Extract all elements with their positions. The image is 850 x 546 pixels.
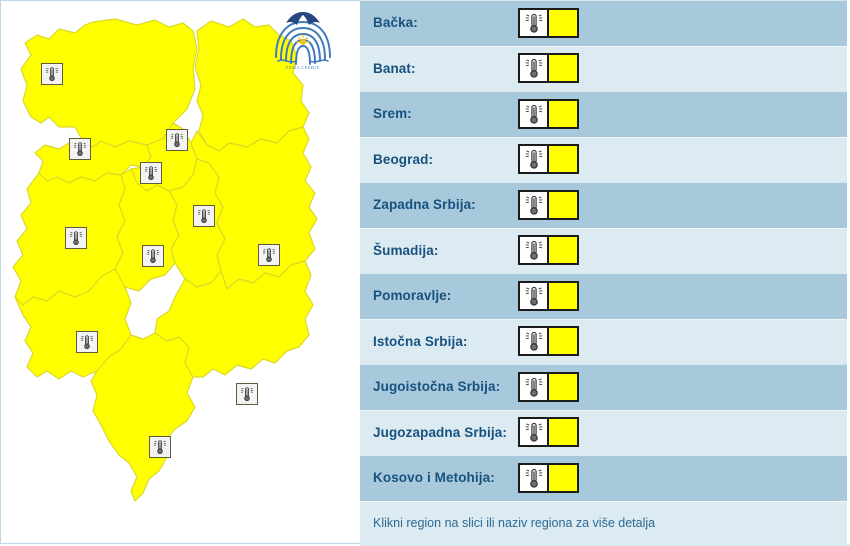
footer-hint-text: Klikni region na slici ili naziv regiona… [360, 516, 655, 530]
region-warning-indicator[interactable] [518, 99, 579, 129]
region-label[interactable]: Zapadna Srbija: [360, 197, 518, 212]
thermometer-icon-box [518, 53, 548, 83]
region-warning-indicator[interactable] [518, 372, 579, 402]
thermometer-icon-box [518, 8, 548, 38]
region-row-11[interactable]: Kosovo i Metohija: [360, 455, 850, 501]
meteoalarm-page: РХМЗ СРБИЈЕ [0, 0, 850, 544]
row-separator [360, 228, 850, 229]
region-warning-indicator[interactable] [518, 281, 579, 311]
thermometer-icon-box [518, 372, 548, 402]
region-row-7[interactable]: Pomoravlje: [360, 273, 850, 319]
map-marker-kosovo-i-metohija[interactable] [149, 436, 171, 458]
warning-level-swatch [548, 463, 579, 493]
region-row-10[interactable]: Jugozapadna Srbija: [360, 410, 850, 456]
region-row-2[interactable]: Banat: [360, 46, 850, 92]
thermometer-heat-icon [523, 330, 545, 352]
row-separator [360, 273, 850, 274]
row-separator [360, 364, 850, 365]
thermometer-icon-box [518, 326, 548, 356]
region-label[interactable]: Istočna Srbija: [360, 334, 518, 349]
thermometer-heat-icon [523, 239, 545, 261]
row-separator [360, 501, 850, 502]
row-separator [360, 0, 850, 1]
region-warning-indicator[interactable] [518, 235, 579, 265]
map-marker-bačka[interactable] [41, 63, 63, 85]
region-warning-indicator[interactable] [518, 8, 579, 38]
thermometer-icon-box [518, 281, 548, 311]
map-marker-beograd[interactable] [140, 162, 162, 184]
region-warning-indicator[interactable] [518, 144, 579, 174]
thermometer-heat-icon [523, 376, 545, 398]
region-row-9[interactable]: Jugoistočna Srbija: [360, 364, 850, 410]
region-warning-indicator[interactable] [518, 463, 579, 493]
thermometer-heat-icon [152, 439, 168, 455]
thermometer-heat-icon [523, 12, 545, 34]
region-label[interactable]: Jugozapadna Srbija: [360, 425, 518, 440]
footer-hint-row: Klikni region na slici ili naziv regiona… [360, 501, 850, 546]
map-marker-šumadija[interactable] [142, 245, 164, 267]
map-marker-zapadna-srbija[interactable] [65, 227, 87, 249]
map-marker-srem[interactable] [69, 138, 91, 160]
thermometer-heat-icon [169, 132, 185, 148]
region-list: Bačka: Banat: [360, 0, 850, 544]
region-label[interactable]: Srem: [360, 106, 518, 121]
thermometer-heat-icon [239, 386, 255, 402]
region-label[interactable]: Jugoistočna Srbija: [360, 379, 518, 394]
warning-level-swatch [548, 281, 579, 311]
thermometer-heat-icon [145, 248, 161, 264]
map-marker-jugozapadna-srbija[interactable] [76, 331, 98, 353]
region-warning-indicator[interactable] [518, 326, 579, 356]
thermometer-heat-icon [523, 103, 545, 125]
region-warning-indicator[interactable] [518, 190, 579, 220]
row-separator [360, 319, 850, 320]
region-row-6[interactable]: Šumadija: [360, 228, 850, 274]
region-row-4[interactable]: Beograd: [360, 137, 850, 183]
map-marker-istočna-srbija[interactable] [258, 244, 280, 266]
thermometer-heat-icon [523, 57, 545, 79]
map-marker-banat[interactable] [166, 129, 188, 151]
region-label[interactable]: Pomoravlje: [360, 288, 518, 303]
region-row-8[interactable]: Istočna Srbija: [360, 319, 850, 365]
warning-level-swatch [548, 144, 579, 174]
region-label[interactable]: Šumadija: [360, 243, 518, 258]
thermometer-heat-icon [523, 285, 545, 307]
map-panel: РХМЗ СРБИЈЕ [0, 0, 360, 544]
thermometer-heat-icon [523, 467, 545, 489]
map-marker-jugoistočna-srbija[interactable] [236, 383, 258, 405]
serbia-regions-map[interactable] [1, 5, 359, 543]
logo-caption: РХМЗ СРБИЈЕ [286, 65, 320, 70]
thermometer-heat-icon [68, 230, 84, 246]
thermometer-heat-icon [79, 334, 95, 350]
region-warning-indicator[interactable] [518, 417, 579, 447]
logo-dome [286, 12, 320, 25]
thermometer-heat-icon [72, 141, 88, 157]
warning-level-swatch [548, 53, 579, 83]
region-row-3[interactable]: Srem: [360, 91, 850, 137]
thermometer-icon-box [518, 144, 548, 174]
thermometer-icon-box [518, 235, 548, 265]
warning-level-swatch [548, 417, 579, 447]
warning-level-swatch [548, 235, 579, 265]
thermometer-heat-icon [523, 421, 545, 443]
thermometer-heat-icon [143, 165, 159, 181]
warning-level-swatch [548, 190, 579, 220]
warning-level-swatch [548, 99, 579, 129]
map-marker-pomoravlje[interactable] [193, 205, 215, 227]
rhmz-serbia-logo: РХМЗ СРБИЈЕ [273, 9, 333, 71]
thermometer-heat-icon [196, 208, 212, 224]
row-separator [360, 46, 850, 47]
row-separator [360, 455, 850, 456]
thermometer-icon-box [518, 417, 548, 447]
region-label[interactable]: Beograd: [360, 152, 518, 167]
thermometer-heat-icon [523, 194, 545, 216]
region-row-1[interactable]: Bačka: [360, 0, 850, 46]
row-separator [360, 182, 850, 183]
row-separator [360, 91, 850, 92]
thermometer-heat-icon [44, 66, 60, 82]
warning-level-swatch [548, 8, 579, 38]
thermometer-icon-box [518, 99, 548, 129]
region-label[interactable]: Kosovo i Metohija: [360, 470, 518, 485]
thermometer-heat-icon [261, 247, 277, 263]
thermometer-icon-box [518, 190, 548, 220]
region-label[interactable]: Banat: [360, 61, 518, 76]
region-warning-indicator[interactable] [518, 53, 579, 83]
region-row-5[interactable]: Zapadna Srbija: [360, 182, 850, 228]
warning-level-swatch [548, 326, 579, 356]
row-separator [360, 137, 850, 138]
row-separator [360, 410, 850, 411]
thermometer-heat-icon [523, 148, 545, 170]
warning-level-swatch [548, 372, 579, 402]
thermometer-icon-box [518, 463, 548, 493]
region-label[interactable]: Bačka: [360, 15, 518, 30]
